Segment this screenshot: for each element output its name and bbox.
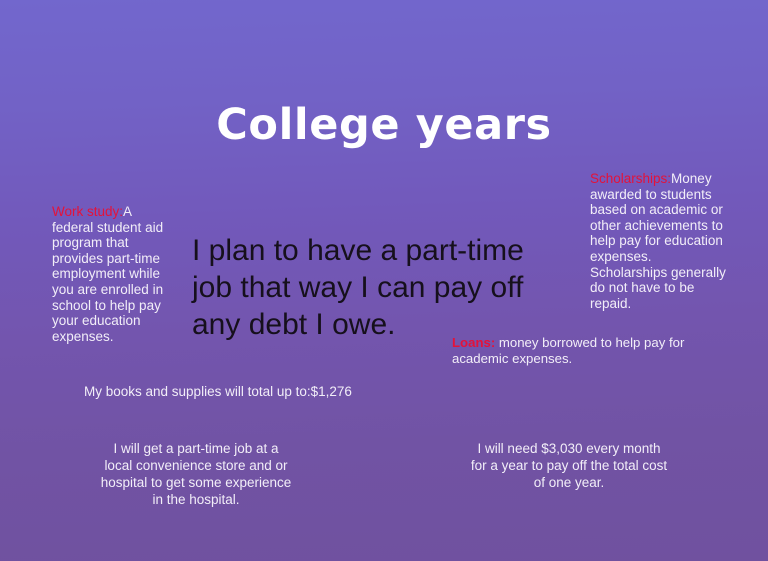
note-plan-cost: I will need $3,030 every month for a yea… (468, 440, 670, 491)
definition-text-work-study: A federal student aid program that provi… (52, 204, 163, 344)
definition-term-scholarships: Scholarships: (590, 171, 671, 186)
page-title: College years (0, 104, 768, 147)
note-books-supplies: My books and supplies will total up to:$… (84, 384, 384, 400)
definition-term-loans: Loans: (452, 335, 495, 350)
definition-work-study: Work study:A federal student aid program… (52, 204, 172, 344)
note-plan-job: I will get a part-time job at a local co… (98, 440, 294, 508)
main-statement: I plan to have a part-time job that way … (192, 232, 572, 343)
definition-loans: Loans: money borrowed to help pay for ac… (452, 335, 716, 367)
definition-term-work-study: Work study: (52, 204, 123, 219)
definition-scholarships: Scholarships:Money awarded to students b… (590, 171, 730, 311)
slide-canvas: College years Work study:A federal stude… (0, 0, 768, 561)
definition-text-scholarships: Money awarded to students based on acade… (590, 171, 726, 311)
